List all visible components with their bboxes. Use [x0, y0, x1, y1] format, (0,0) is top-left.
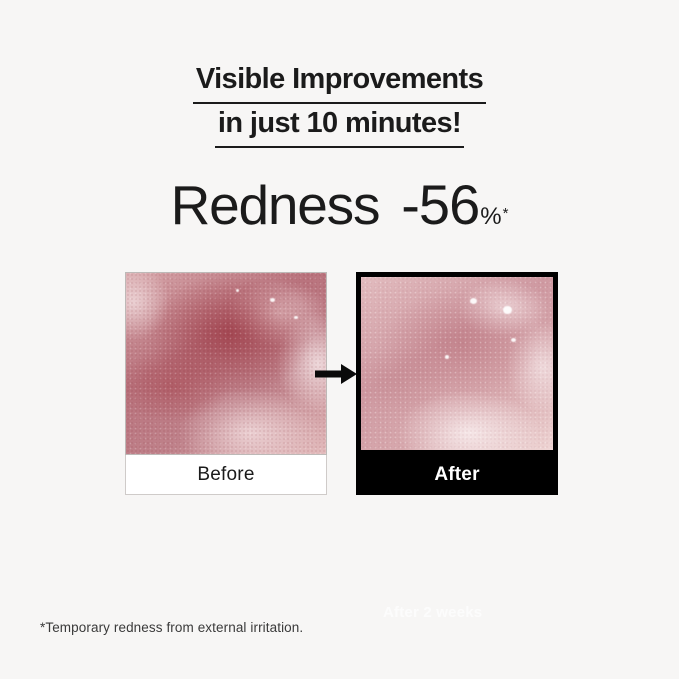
skin-grain-overlay — [126, 273, 326, 454]
headline-block: Visible Improvements in just 10 minutes! — [0, 60, 679, 148]
highlight-speck — [270, 298, 275, 302]
headline-line-2-text: in just 10 minutes! — [215, 104, 464, 148]
after-caption: After — [356, 455, 558, 495]
after-skin-image — [356, 272, 558, 455]
arrow-right-icon — [315, 362, 357, 386]
headline-line-2: in just 10 minutes! — [0, 104, 679, 148]
metric-row: Redness-56%* — [0, 172, 679, 237]
promo-graphic: Visible Improvements in just 10 minutes!… — [0, 0, 679, 679]
disclaimer-note: *Temporary redness from external irritat… — [40, 620, 303, 635]
headline-line-1-text: Visible Improvements — [193, 60, 486, 104]
watermark-note: After 2 weeks — [383, 604, 482, 621]
highlight-speck — [511, 338, 516, 342]
metric-label: Redness — [171, 174, 380, 236]
highlight-speck — [470, 298, 477, 304]
after-panel: After — [356, 272, 558, 495]
before-skin-image — [125, 272, 327, 455]
metric-value: -56 — [401, 173, 479, 236]
highlight-speck — [294, 316, 298, 319]
metric-footnote-marker: * — [503, 205, 509, 222]
before-panel: Before — [125, 272, 327, 495]
highlight-speck — [236, 289, 239, 292]
metric-unit: % — [480, 203, 501, 230]
before-caption: Before — [125, 455, 327, 495]
highlight-speck — [503, 306, 512, 314]
headline-line-1: Visible Improvements — [0, 60, 679, 104]
highlight-speck — [445, 355, 449, 359]
skin-grain-overlay — [361, 277, 553, 450]
before-after-comparison: Before After — [125, 272, 558, 503]
